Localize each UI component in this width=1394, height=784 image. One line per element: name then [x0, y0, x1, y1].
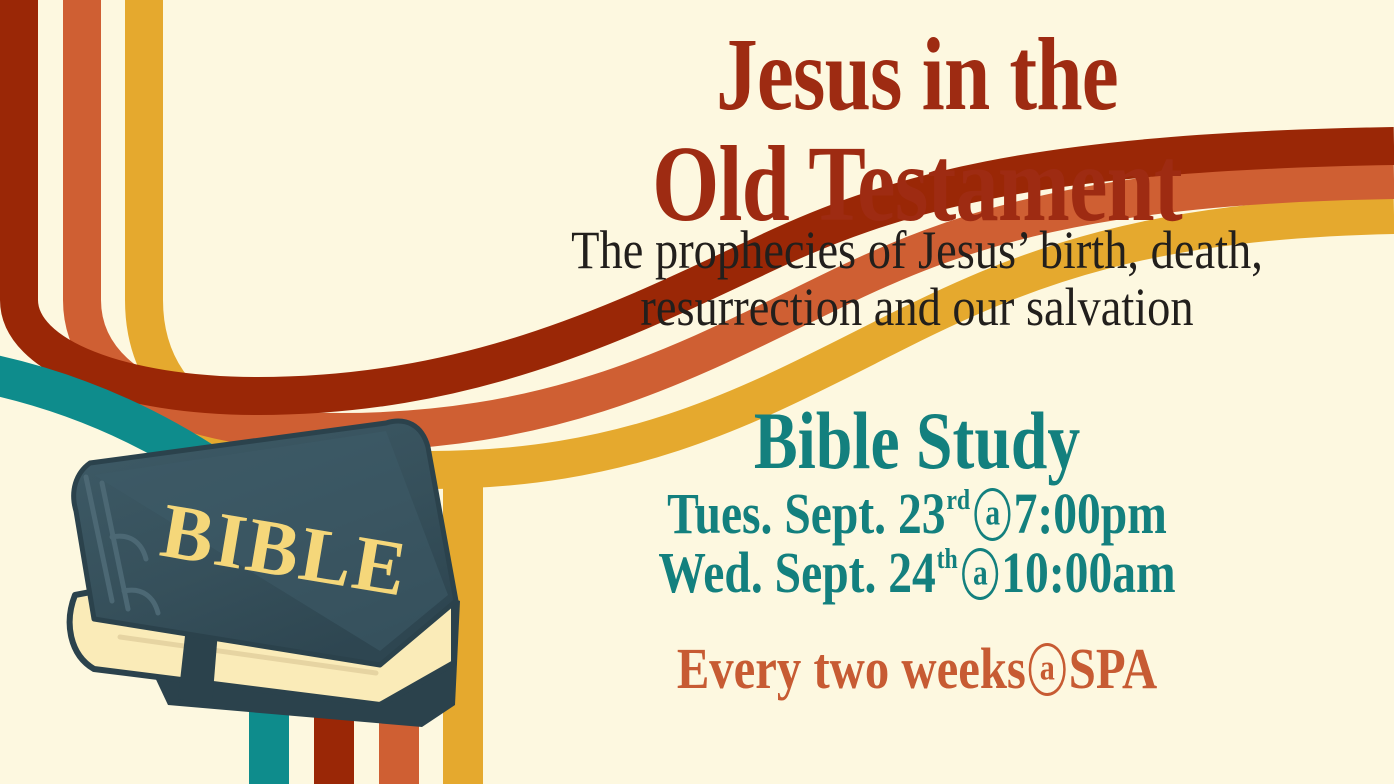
session-1-day: Tues. Sept. 23 [667, 481, 945, 546]
at-icon: a [962, 548, 998, 600]
session-2-time: 10:00am [1001, 540, 1175, 605]
session-2-day: Wed. Sept. 24 [658, 540, 935, 605]
at-icon: a [1029, 643, 1066, 695]
session-1-ordinal: rd [946, 484, 970, 516]
event-session-2: Wed. Sept. 24tha10:00am [526, 543, 1308, 602]
bible-book-illustration: BIBLE [50, 405, 500, 775]
subtitle-line-1: The prophecies of Jesus’ birth, death, [507, 222, 1327, 279]
footer-text-after: SPA [1069, 636, 1157, 701]
footer-text-before: Every two weeks [677, 636, 1026, 701]
footer-line: Every two weeksaSPA [516, 640, 1317, 698]
footer-block: Every two weeksaSPA [440, 640, 1394, 698]
session-1-time: 7:00pm [1014, 481, 1167, 546]
event-block: Bible Study Tues. Sept. 23rda7:00pm Wed.… [440, 400, 1394, 602]
at-icon: a [975, 488, 1011, 540]
event-session-1: Tues. Sept. 23rda7:00pm [526, 484, 1308, 543]
subtitle-line-2: resurrection and our salvation [507, 279, 1327, 336]
event-heading: Bible Study [535, 400, 1298, 482]
poster-text-column: Jesus in the Old Testament The prophecie… [440, 0, 1394, 784]
subtitle-block: The prophecies of Jesus’ birth, death, r… [440, 222, 1394, 336]
session-2-ordinal: th [937, 543, 958, 575]
poster-canvas: BIBLE Jesus in the Old Testament The pro… [0, 0, 1394, 784]
title-block: Jesus in the Old Testament [440, 24, 1394, 238]
title-line-1: Jesus in the [535, 24, 1298, 126]
